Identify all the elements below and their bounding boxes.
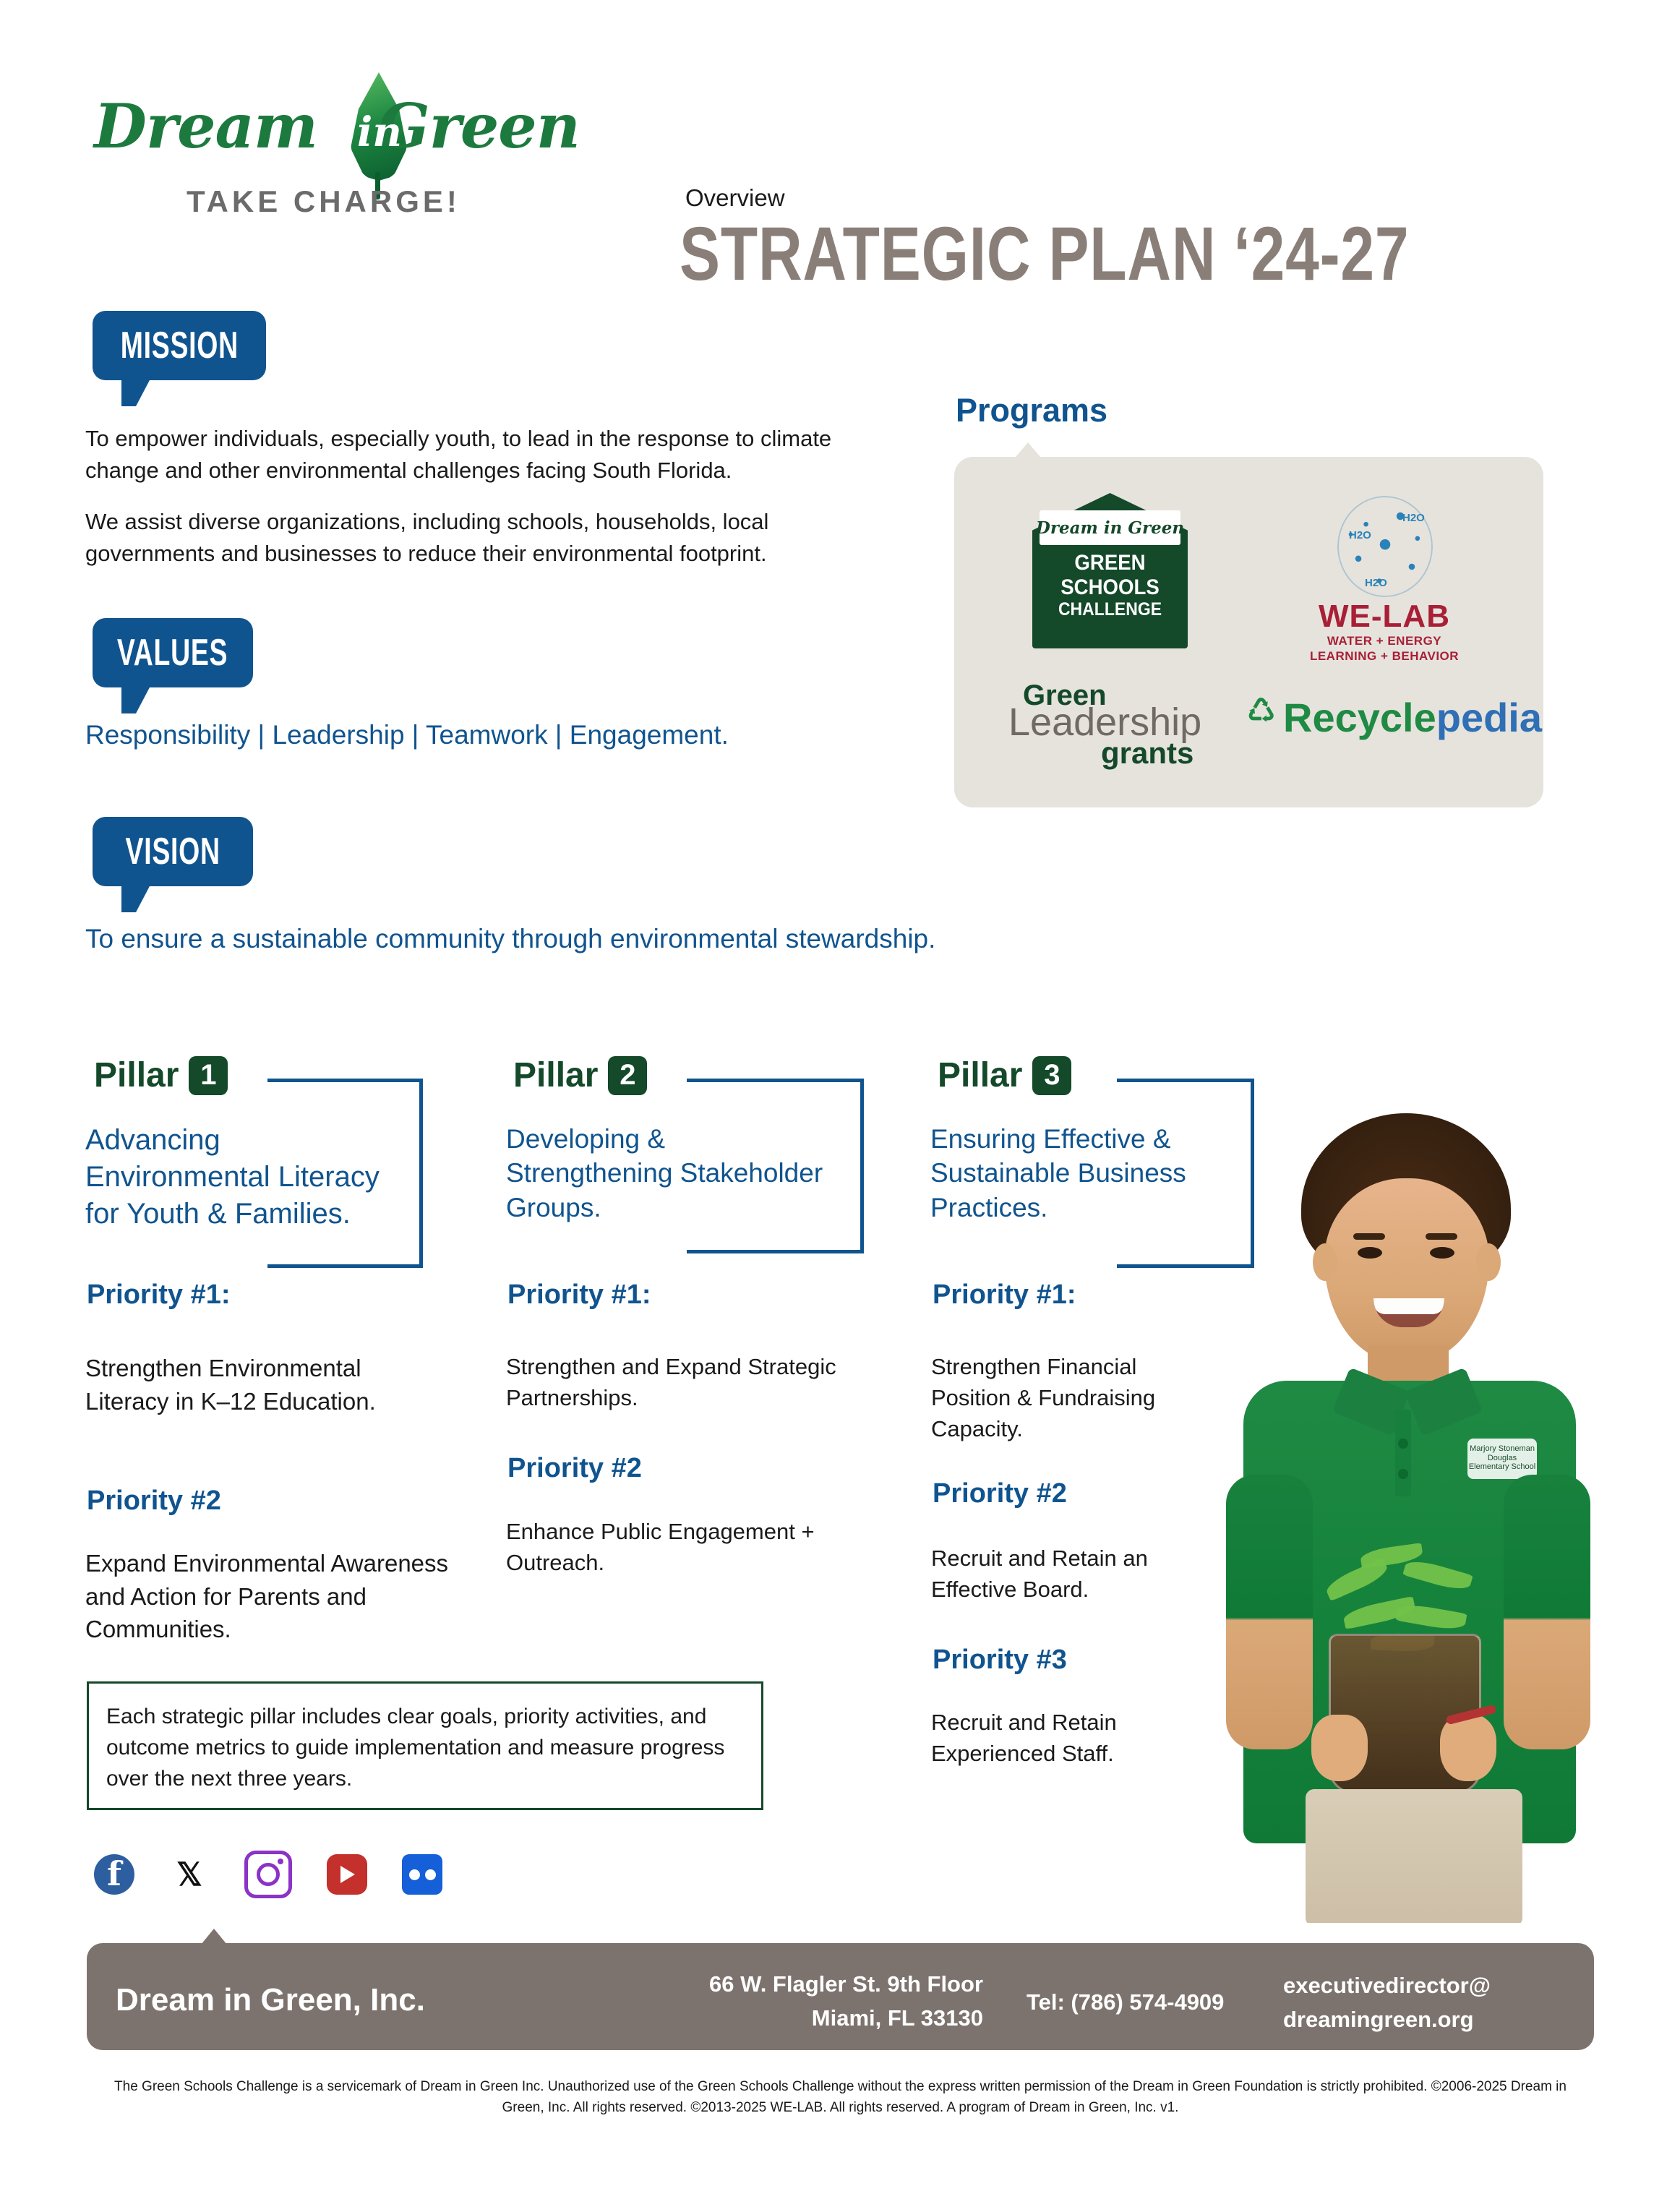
legal-disclaimer: The Green Schools Challenge is a service… bbox=[94, 2076, 1587, 2119]
footer-email-line-1: executivedirector@ bbox=[1283, 1969, 1536, 2003]
we-lab-wordmark: WE-LAB bbox=[1280, 599, 1489, 635]
photo-ear-left bbox=[1313, 1243, 1337, 1281]
footer-address-line-2: Miami, FL 33130 bbox=[549, 2002, 983, 2036]
values-text: Responsibility | Leadership | Teamwork |… bbox=[85, 720, 917, 750]
gsc-brand-strip: Dream in Green bbox=[1040, 510, 1180, 545]
h2o-label-2: H2O bbox=[1402, 512, 1425, 524]
dream-in-green-logo: DreamGreen in TAKE CHARGE! bbox=[94, 76, 499, 228]
photo-button-1 bbox=[1398, 1439, 1408, 1449]
vision-label: VISION bbox=[125, 830, 220, 873]
we-lab-logo: H2O H2O H2O WE-LAB WATER + ENERGY LEARNI… bbox=[1280, 496, 1489, 651]
pillar-3-priority-2-heading: Priority #2 bbox=[933, 1478, 1067, 1509]
photo-pants bbox=[1306, 1789, 1522, 1923]
recyclepedia-blue-part: pedia bbox=[1436, 695, 1542, 740]
values-label: VALUES bbox=[117, 631, 228, 674]
logo-tagline: TAKE CHARGE! bbox=[187, 184, 460, 219]
photo-arm-right bbox=[1504, 1475, 1590, 1749]
pillar-3-priority-2-body: Recruit and Retain an Effective Board. bbox=[931, 1543, 1184, 1606]
recyclepedia-logo: Recyclepedia bbox=[1283, 694, 1587, 759]
pillar-2-priority-2-body: Enhance Public Engagement + Outreach. bbox=[506, 1517, 889, 1579]
photo-eye-right bbox=[1430, 1247, 1454, 1259]
logo-word-green: Green bbox=[378, 90, 580, 162]
pillar-1-priority-2-heading: Priority #2 bbox=[87, 1486, 221, 1517]
social-links: f 𝕏 bbox=[94, 1851, 442, 1898]
pillar-1-number-badge: 1 bbox=[189, 1056, 228, 1095]
pillar-3-number-badge: 3 bbox=[1032, 1056, 1071, 1095]
pillar-1-priority-1-body: Strengthen Environmental Literacy in K–1… bbox=[85, 1352, 425, 1418]
footer-org-name: Dream in Green, Inc. bbox=[116, 1982, 425, 2018]
gsc-line-2: SCHOOLS bbox=[1039, 575, 1182, 600]
gsc-line-1: GREEN bbox=[1039, 551, 1182, 575]
vision-text: To ensure a sustainable community throug… bbox=[85, 924, 1170, 954]
recycle-arrow-icon: ♺ bbox=[1247, 693, 1275, 729]
mission-badge: MISSION bbox=[93, 311, 266, 380]
pillar-2-word: Pillar bbox=[513, 1055, 598, 1095]
pillar-3-priority-3-heading: Priority #3 bbox=[933, 1645, 1067, 1676]
mission-label: MISSION bbox=[120, 324, 238, 367]
programs-title: Programs bbox=[956, 392, 1107, 429]
pillar-1-header: Pillar 1 bbox=[94, 1055, 228, 1095]
recyclepedia-green-part: Recycle bbox=[1283, 695, 1436, 740]
photo-hand-left bbox=[1311, 1715, 1368, 1781]
footer-email-line-2: dreamingreen.org bbox=[1283, 2003, 1536, 2037]
implementation-note-text: Each strategic pillar includes clear goa… bbox=[106, 1701, 742, 1795]
instagram-icon[interactable] bbox=[244, 1851, 292, 1898]
pillar-3-header: Pillar 3 bbox=[938, 1055, 1071, 1095]
gsc-line-3: CHALLENGE bbox=[1039, 599, 1182, 620]
flickr-icon[interactable] bbox=[402, 1854, 442, 1895]
we-lab-subtitle: WATER + ENERGY LEARNING + BEHAVIOR bbox=[1280, 633, 1489, 664]
pillar-2-description: Developing & Strengthening Stakeholder G… bbox=[506, 1122, 824, 1225]
facebook-icon[interactable]: f bbox=[94, 1854, 134, 1895]
logo-word-in: in bbox=[354, 108, 405, 156]
logo-wordmark: DreamGreen bbox=[94, 90, 499, 162]
strategic-plan-page: DreamGreen in TAKE CHARGE! Overview STRA… bbox=[0, 0, 1680, 2186]
implementation-note-box: Each strategic pillar includes clear goa… bbox=[87, 1681, 763, 1810]
mission-paragraph-2: We assist diverse organizations, includi… bbox=[85, 506, 873, 570]
student-photo: Marjory Stoneman Douglas Elementary Scho… bbox=[1157, 1099, 1663, 1923]
vision-badge: VISION bbox=[93, 817, 253, 886]
pillar-2-header: Pillar 2 bbox=[513, 1055, 647, 1095]
h2o-label-3: H2O bbox=[1365, 577, 1387, 589]
glg-line-3: grants bbox=[1101, 736, 1193, 771]
h2o-label-1: H2O bbox=[1349, 529, 1371, 541]
photo-face bbox=[1324, 1178, 1489, 1363]
we-lab-subtitle-2: LEARNING + BEHAVIOR bbox=[1280, 648, 1489, 664]
pillar-2-priority-1-body: Strengthen and Expand Strategic Partners… bbox=[506, 1352, 911, 1414]
photo-placket bbox=[1395, 1410, 1411, 1496]
photo-arm-left bbox=[1226, 1475, 1313, 1749]
pillar-1-priority-2-body: Expand Environmental Awareness and Actio… bbox=[85, 1547, 490, 1646]
photo-school-crest: Marjory Stoneman Douglas Elementary Scho… bbox=[1467, 1439, 1537, 1479]
photo-button-2 bbox=[1398, 1469, 1408, 1479]
pillar-1-word: Pillar bbox=[94, 1055, 179, 1095]
pillar-3-word: Pillar bbox=[938, 1055, 1022, 1095]
pillar-2-number-badge: 2 bbox=[608, 1056, 647, 1095]
x-twitter-icon[interactable]: 𝕏 bbox=[169, 1854, 210, 1895]
values-badge: VALUES bbox=[93, 618, 253, 687]
logo-word-dream: Dream bbox=[94, 90, 317, 162]
photo-teeth bbox=[1373, 1298, 1444, 1314]
photo-brow-right bbox=[1426, 1233, 1457, 1240]
footer-telephone[interactable]: Tel: (786) 574-4909 bbox=[1027, 1989, 1224, 2015]
footer-address-line-1: 66 W. Flagler St. 9th Floor bbox=[549, 1968, 983, 2002]
pillar-1-description: Advancing Environmental Literacy for You… bbox=[85, 1122, 411, 1233]
photo-ear-right bbox=[1476, 1243, 1501, 1281]
photo-brow-left bbox=[1353, 1233, 1385, 1240]
gsc-wordmark: GREEN SCHOOLS CHALLENGE bbox=[1032, 551, 1188, 620]
footer-email[interactable]: executivedirector@ dreamingreen.org bbox=[1283, 1969, 1536, 2036]
pillar-3-priority-3-body: Recruit and Retain Experienced Staff. bbox=[931, 1707, 1184, 1770]
photo-eye-left bbox=[1358, 1247, 1382, 1259]
pillar-1-priority-1-heading: Priority #1: bbox=[87, 1280, 231, 1311]
gsc-brand-text: Dream in Green bbox=[1036, 518, 1184, 538]
photo-hand-right bbox=[1440, 1715, 1496, 1781]
green-schools-challenge-logo: Dream in Green GREEN SCHOOLS CHALLENGE bbox=[1032, 493, 1188, 648]
pillar-2-priority-2-heading: Priority #2 bbox=[507, 1453, 642, 1484]
page-title: STRATEGIC PLAN ‘24-27 bbox=[680, 211, 1409, 298]
green-leadership-grants-logo: Green Leadership grants bbox=[1008, 680, 1225, 773]
mission-paragraph-1: To empower individuals, especially youth… bbox=[85, 423, 873, 487]
footer-notch bbox=[201, 1929, 227, 1945]
footer-address: 66 W. Flagler St. 9th Floor Miami, FL 33… bbox=[549, 1968, 983, 2035]
pillar-3-priority-1-heading: Priority #1: bbox=[933, 1280, 1076, 1311]
youtube-icon[interactable] bbox=[327, 1854, 367, 1895]
we-lab-subtitle-1: WATER + ENERGY bbox=[1280, 633, 1489, 648]
pillar-2-priority-1-heading: Priority #1: bbox=[507, 1280, 651, 1311]
page-eyebrow: Overview bbox=[685, 184, 785, 212]
